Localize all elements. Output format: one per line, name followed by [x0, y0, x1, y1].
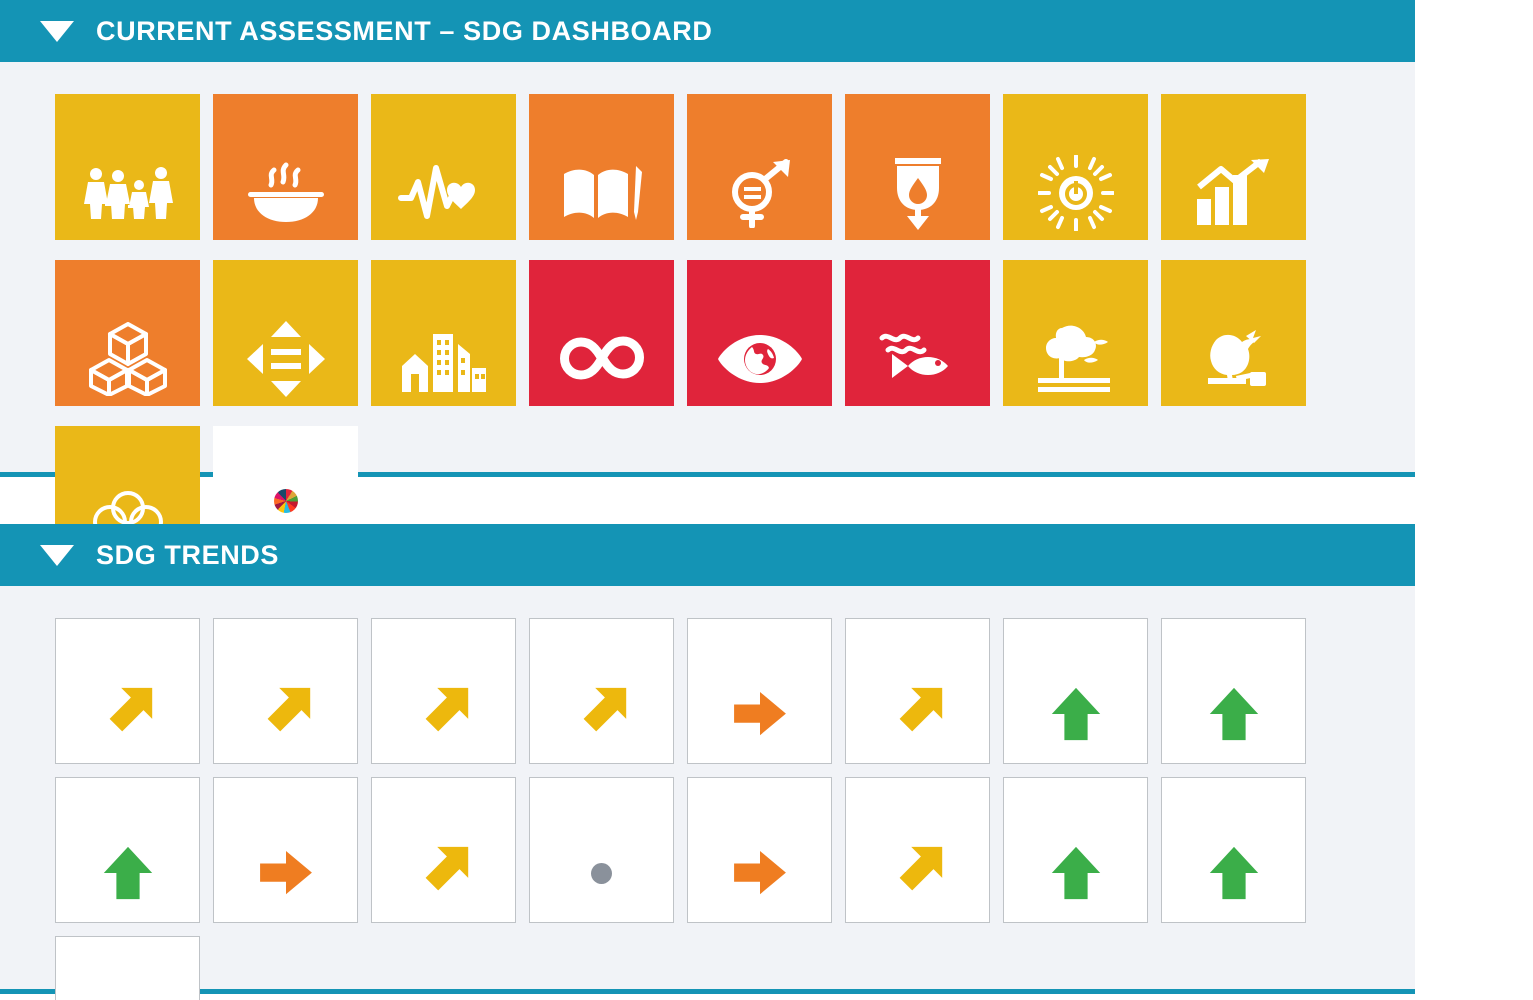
sdg-trend-tile-10[interactable] — [213, 777, 358, 923]
sdg-tile-head — [1161, 94, 1306, 107]
sdg-tile-13[interactable] — [687, 260, 832, 406]
bowl-icon — [213, 154, 358, 232]
sdg-tile-head — [213, 260, 358, 273]
people-icon — [55, 154, 200, 232]
arrow-up-icon — [56, 838, 199, 908]
sdg-trend-head — [56, 619, 199, 631]
arrow-up-right-icon — [846, 679, 989, 749]
sdg-trend-tile-3[interactable] — [371, 618, 516, 764]
current-assessment-panel: CURRENT ASSESSMENT – SDG DASHBOARD — [0, 0, 1415, 477]
sdg-trend-tile-15[interactable] — [1003, 777, 1148, 923]
caret-down-icon[interactable] — [40, 545, 74, 566]
sdg-trend-tile-17[interactable] — [55, 936, 200, 1000]
sdg-trend-tile-8[interactable] — [1161, 618, 1306, 764]
sdg-tile-head — [371, 260, 516, 273]
trends-body — [0, 586, 1415, 1000]
sdg-tile-16[interactable] — [1161, 260, 1306, 406]
gender-icon — [687, 154, 832, 232]
tree-birds-icon — [1003, 320, 1148, 398]
water-drop-icon — [845, 154, 990, 232]
sdg-trend-tile-4[interactable] — [529, 618, 674, 764]
sdg-tile-2[interactable] — [213, 94, 358, 240]
cubes-icon — [55, 320, 200, 398]
grey-dot-icon — [530, 838, 673, 908]
arrow-right-icon — [214, 838, 357, 908]
sdg-tile-head — [55, 426, 200, 439]
sdg-tile-head — [845, 260, 990, 273]
sdg-trend-head — [1162, 619, 1305, 631]
sdg-trend-tile-14[interactable] — [845, 777, 990, 923]
trends-title: SDG TRENDS — [96, 540, 279, 571]
sdg-trend-head — [372, 619, 515, 631]
arrow-up-right-icon — [530, 679, 673, 749]
sdg-tile-5[interactable] — [687, 94, 832, 240]
sdg-tile-8[interactable] — [1161, 94, 1306, 240]
arrow-up-right-icon — [214, 679, 357, 749]
sdg-trend-tile-6[interactable] — [845, 618, 990, 764]
arrow-up-right-icon — [846, 838, 989, 908]
growth-chart-icon — [1161, 154, 1306, 232]
sdg-tile-11[interactable] — [371, 260, 516, 406]
sdg-trend-head — [214, 778, 357, 790]
sdg-tile-head — [529, 260, 674, 273]
sdg-trend-head — [688, 778, 831, 790]
eye-earth-icon — [687, 320, 832, 398]
arrow-right-icon — [688, 679, 831, 749]
sdg-trend-tile-1[interactable] — [55, 618, 200, 764]
arrow-right-icon — [688, 838, 831, 908]
arrow-up-icon — [1162, 838, 1305, 908]
sdg-tile-14[interactable] — [845, 260, 990, 406]
equal-arrows-icon — [213, 320, 358, 398]
sdg-trend-head — [1162, 778, 1305, 790]
sdg-trend-tile-13[interactable] — [687, 777, 832, 923]
sdg-trend-tile-5[interactable] — [687, 618, 832, 764]
arrow-up-right-icon — [56, 679, 199, 749]
sdg-trend-head — [1004, 619, 1147, 631]
fish-waves-icon — [845, 320, 990, 398]
sdg-trend-head — [56, 778, 199, 790]
sdg-trend-tile-16[interactable] — [1161, 777, 1306, 923]
sdg-tile-15[interactable] — [1003, 260, 1148, 406]
sdg-trend-head — [372, 778, 515, 790]
sdg-tile-head — [687, 94, 832, 107]
sdg-tile-10[interactable] — [213, 260, 358, 406]
sdg-tile-grid — [0, 94, 1380, 572]
sdg-tile-head — [55, 94, 200, 107]
sdg-trend-tile-7[interactable] — [1003, 618, 1148, 764]
assessment-title: CURRENT ASSESSMENT – SDG DASHBOARD — [96, 16, 712, 47]
sdg-trend-head — [214, 619, 357, 631]
sdg-tile-12[interactable] — [529, 260, 674, 406]
sdg-trend-tile-grid — [0, 618, 1380, 1000]
sdg-trend-tile-11[interactable] — [371, 777, 516, 923]
sdg-tile-head — [1003, 260, 1148, 273]
sdg-trend-head — [688, 619, 831, 631]
arrow-up-right-icon — [372, 679, 515, 749]
arrow-up-icon — [1004, 838, 1147, 908]
sdg-tile-6[interactable] — [845, 94, 990, 240]
sdg-trend-head — [1004, 778, 1147, 790]
sdg-tile-head — [55, 260, 200, 273]
sdg-trends-panel: SDG TRENDS — [0, 524, 1415, 994]
sdg-trend-head — [846, 778, 989, 790]
arrow-up-icon — [1004, 679, 1147, 749]
sdg-tile-1[interactable] — [55, 94, 200, 240]
sdg-tile-head — [1003, 94, 1148, 107]
sdg-tile-head — [529, 94, 674, 107]
trends-header[interactable]: SDG TRENDS — [0, 524, 1415, 586]
arrow-up-icon — [1162, 679, 1305, 749]
sdg-tile-head — [687, 260, 832, 273]
sdg-color-wheel-icon — [274, 489, 298, 513]
sdg-tile-4[interactable] — [529, 94, 674, 240]
dove-gavel-icon — [1161, 320, 1306, 398]
infinity-icon — [529, 320, 674, 398]
city-icon — [371, 320, 516, 398]
sdg-tile-head — [1161, 260, 1306, 273]
assessment-header[interactable]: CURRENT ASSESSMENT – SDG DASHBOARD — [0, 0, 1415, 62]
sdg-logo-line3 — [273, 489, 299, 513]
sun-power-icon — [1003, 154, 1148, 232]
caret-down-icon[interactable] — [40, 21, 74, 42]
arrow-up-right-icon — [372, 838, 515, 908]
sdg-tile-7[interactable] — [1003, 94, 1148, 240]
assessment-body — [0, 62, 1415, 597]
book-pencil-icon — [529, 154, 674, 232]
sdg-tile-head — [213, 94, 358, 107]
sdg-trend-tile-12[interactable] — [529, 777, 674, 923]
sdg-tile-9[interactable] — [55, 260, 200, 406]
sdg-tile-head — [845, 94, 990, 107]
sdg-trend-head — [56, 937, 199, 949]
sdg-tile-3[interactable] — [371, 94, 516, 240]
sdg-trend-tile-9[interactable] — [55, 777, 200, 923]
sdg-trend-head — [846, 619, 989, 631]
sdg-report-page: CURRENT ASSESSMENT – SDG DASHBOARD — [0, 0, 1533, 1000]
heartbeat-icon — [371, 154, 516, 232]
sdg-trend-head — [530, 778, 673, 790]
sdg-tile-head — [371, 94, 516, 107]
sdg-trend-tile-2[interactable] — [213, 618, 358, 764]
sdg-trend-head — [530, 619, 673, 631]
